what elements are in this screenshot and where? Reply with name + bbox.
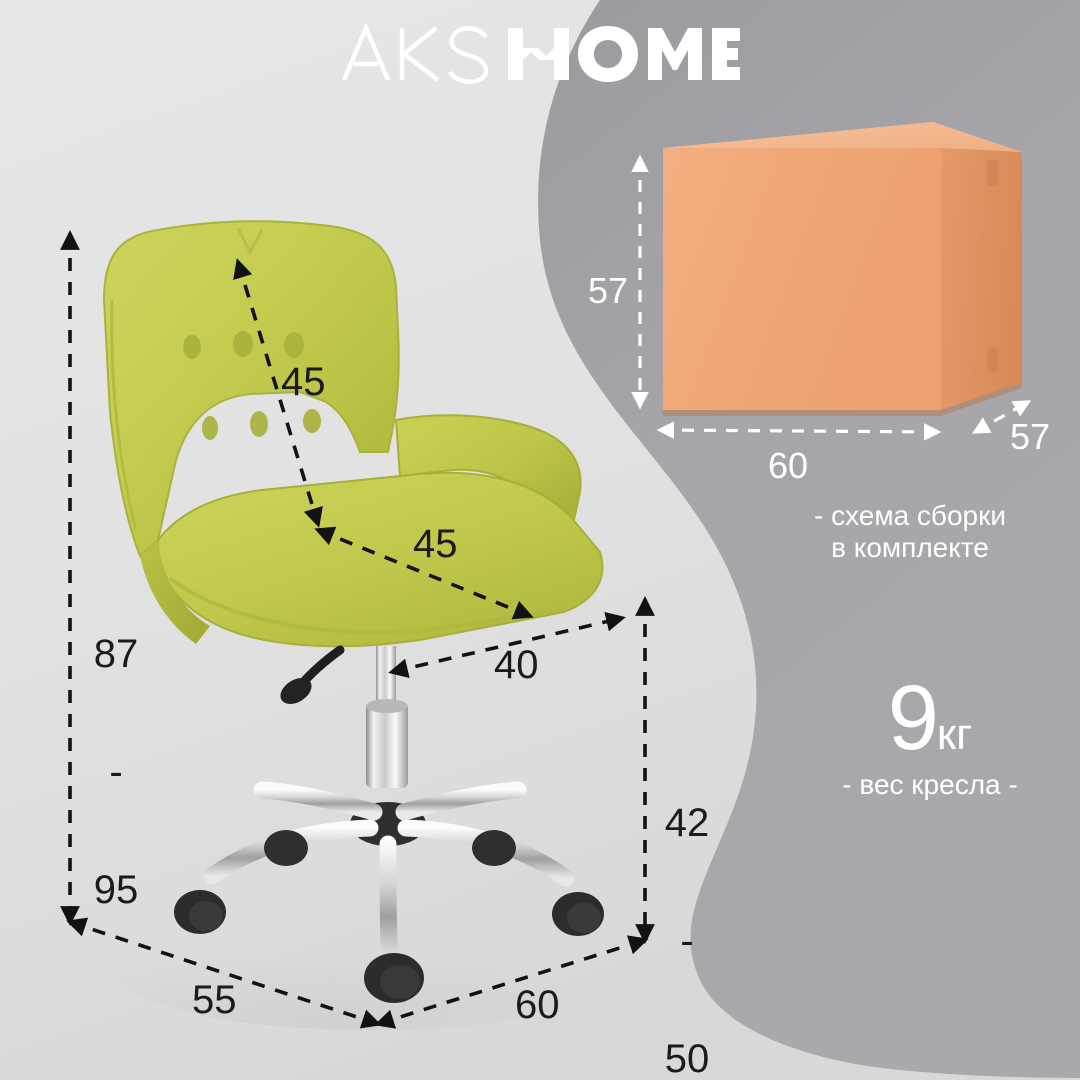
weight-number: 9 xyxy=(888,667,937,769)
label-base-width: 60 xyxy=(515,985,560,1026)
weight-block: 9кг - вес кресла - xyxy=(800,676,1060,801)
label-carton-width: 60 xyxy=(768,445,808,487)
label-seat-depth: 45 xyxy=(413,524,458,565)
label-backrest-height: 45 xyxy=(281,362,326,403)
label-seat-width: 40 xyxy=(494,645,539,686)
label-carton-depth: 57 xyxy=(1010,416,1050,458)
assembly-note: - схема сборки в комплекте xyxy=(780,500,1040,565)
label-seat-height: 42 - 50 xyxy=(655,726,719,1080)
weight-row: 9кг xyxy=(800,676,1060,761)
label-carton-height: 57 xyxy=(588,270,628,312)
label-overall-height: 87 - 95 xyxy=(84,557,148,988)
label-base-depth: 55 xyxy=(192,980,237,1021)
weight-unit: кг xyxy=(937,710,972,759)
dimline-carton-width xyxy=(660,430,938,432)
weight-caption: - вес кресла - xyxy=(800,769,1060,801)
infographic-canvas: 87 - 95 45 45 40 42 - 50 55 60 57 60 57 … xyxy=(0,0,1080,1080)
